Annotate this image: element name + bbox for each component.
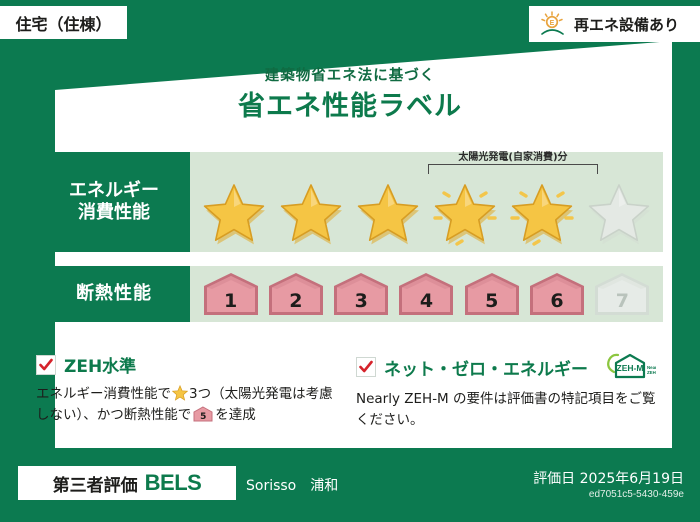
star-empty: [585, 180, 653, 248]
solar-annotation-label: 太陽光発電(自家消費)分: [428, 148, 598, 163]
house-filled: 5: [463, 271, 521, 317]
energy-label-line1: エネルギー: [69, 180, 159, 202]
insulation-performance-row: 断熱性能 1234567: [38, 266, 663, 322]
inline-house-number: 5: [193, 413, 213, 422]
svg-text:E: E: [550, 20, 555, 27]
evaluation-id: ed7051c5-5430-459e: [589, 489, 684, 500]
third-party-label: 第三者評価: [53, 471, 138, 496]
house-number: 3: [332, 290, 390, 312]
star-filled: [277, 180, 345, 248]
renewable-badge-label: 再エネ設備あり: [574, 14, 679, 35]
label-subtitle: 建築物省エネ法に基づく: [0, 64, 700, 85]
energy-star-track: 太陽光発電(自家消費)分: [190, 152, 663, 252]
house-filled: 1: [202, 271, 260, 317]
house-number: 2: [267, 290, 325, 312]
star-rating-group: [190, 176, 663, 248]
insulation-house-track: 1234567: [190, 266, 663, 322]
inline-star-icon: [172, 385, 188, 401]
svg-text:ZEH-M: ZEH-M: [617, 363, 644, 373]
zeh-body-post: を達成: [215, 407, 256, 423]
criterion-zeh-header: ZEH水準: [36, 352, 336, 377]
house-number: 7: [593, 290, 651, 312]
energy-label-line2: 消費性能: [78, 202, 150, 224]
evaluation-date: 評価日 2025年6月19日: [533, 468, 684, 488]
energy-performance-label: 住宅（住棟） E 再エネ設備あり 建築物省エネ法に基づく 省エネ性能ラベル: [0, 0, 700, 522]
zeh-m-logo-sub2: ZEH-M: [647, 370, 656, 375]
solar-sun-icon: E: [539, 11, 567, 37]
star-filled: [200, 180, 268, 248]
renewable-equipment-badge: E 再エネ設備あり: [529, 6, 700, 42]
star-filled: [431, 180, 499, 248]
house-empty: 7: [593, 271, 651, 317]
criterion-zeh-standard: ZEH水準 エネルギー消費性能で3つ（太陽光発電は考慮しない）、かつ断熱性能で5…: [36, 352, 336, 427]
criterion-nze-header: ネット・ゼロ・エネルギー ZEH-M Nearly ZEH-M: [356, 352, 666, 382]
criterion-net-zero-energy: ネット・ゼロ・エネルギー ZEH-M Nearly ZEH-M Nearly Z…: [356, 352, 666, 432]
category-badge-label: 住宅（住棟）: [15, 11, 111, 35]
zeh-standard-checkbox[interactable]: [36, 355, 56, 375]
third-party-evaluation-badge: 第三者評価 BELS: [18, 466, 236, 500]
net-zero-energy-title: ネット・ゼロ・エネルギー: [384, 355, 588, 380]
net-zero-energy-checkbox[interactable]: [356, 357, 376, 377]
insulation-performance-label-block: 断熱性能: [38, 266, 190, 322]
house-number: 6: [528, 290, 586, 312]
house-filled: 3: [332, 271, 390, 317]
house-rating-group: 1234567: [190, 266, 663, 322]
house-number: 5: [463, 290, 521, 312]
net-zero-energy-body: Nearly ZEH-M の要件は評価書の特記項目をご覧ください。: [356, 389, 666, 432]
star-filled: [354, 180, 422, 248]
house-filled: 6: [528, 271, 586, 317]
zeh-standard-title: ZEH水準: [64, 352, 136, 377]
house-filled: 4: [397, 271, 455, 317]
energy-performance-row: エネルギー 消費性能 太陽光発電(自家消費)分: [38, 152, 663, 252]
solar-annotation-bracket: [428, 164, 598, 174]
zeh-body-pre: エネルギー消費性能で: [36, 386, 171, 402]
inline-house-icon: 5: [193, 406, 213, 422]
zeh-m-logo-icon: ZEH-M Nearly ZEH-M: [602, 352, 656, 382]
property-owner-name: Sorisso 浦和: [246, 475, 338, 495]
energy-performance-label-block: エネルギー 消費性能: [38, 152, 190, 252]
house-number: 1: [202, 290, 260, 312]
page-title: 省エネ性能ラベル: [0, 84, 700, 123]
category-badge: 住宅（住棟）: [0, 6, 127, 39]
star-filled: [508, 180, 576, 248]
insulation-label: 断熱性能: [76, 283, 152, 305]
house-filled: 2: [267, 271, 325, 317]
house-number: 4: [397, 290, 455, 312]
bels-logo-text: BELS: [145, 470, 202, 496]
zeh-standard-body: エネルギー消費性能で3つ（太陽光発電は考慮しない）、かつ断熱性能で5を達成: [36, 384, 336, 427]
